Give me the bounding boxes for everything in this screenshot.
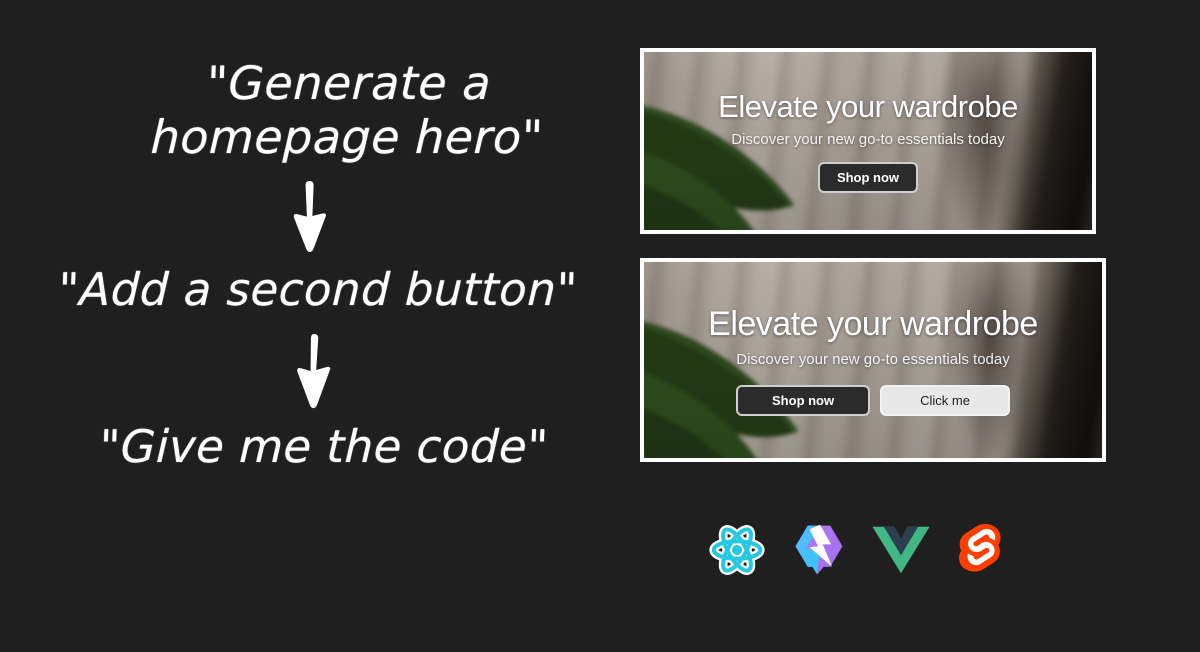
hero-subtitle: Discover your new go-to essentials today (731, 131, 1004, 148)
prompt-step-3: "Give me the code" (63, 420, 585, 473)
arrow-down-icon (287, 179, 333, 257)
hero-card-single-button: Elevate your wardrobe Discover your new … (640, 48, 1096, 234)
shop-now-button[interactable]: Shop now (736, 385, 870, 416)
click-me-button[interactable]: Click me (880, 385, 1010, 416)
hero-button-group: Shop now Click me (736, 385, 1010, 416)
hero-title: Elevate your wardrobe (718, 89, 1018, 125)
arrow-down-2 (1, 332, 626, 414)
qwik-logo-icon (789, 520, 849, 580)
hero-content: Elevate your wardrobe Discover your new … (644, 89, 1092, 193)
prompt-step-2: "Add a second button" (27, 263, 609, 316)
hero-title: Elevate your wardrobe (708, 305, 1038, 344)
hero-inner: Elevate your wardrobe Discover your new … (644, 52, 1092, 230)
vue-logo[interactable] (869, 518, 933, 582)
hero-inner: Elevate your wardrobe Discover your new … (644, 262, 1102, 458)
qwik-logo[interactable] (787, 518, 851, 582)
react-logo[interactable] (705, 518, 769, 582)
shop-now-button[interactable]: Shop now (818, 162, 918, 193)
arrow-down-icon (291, 332, 337, 414)
react-logo-icon (706, 519, 768, 581)
hero-content: Elevate your wardrobe Discover your new … (644, 305, 1102, 416)
framework-logo-row (705, 508, 1015, 592)
prompt-flow: "Generate a homepage hero" "Add a second… (0, 0, 625, 652)
hero-subtitle: Discover your new go-to essentials today (736, 351, 1009, 368)
prompt-step-1: "Generate a homepage hero" (136, 56, 560, 165)
hero-button-group: Shop now (818, 162, 918, 193)
svelte-logo-icon (954, 521, 1012, 579)
arrow-down-1 (0, 179, 623, 257)
vue-logo-icon (872, 525, 930, 575)
hero-card-two-buttons: Elevate your wardrobe Discover your new … (640, 258, 1106, 462)
svelte-logo[interactable] (951, 518, 1015, 582)
